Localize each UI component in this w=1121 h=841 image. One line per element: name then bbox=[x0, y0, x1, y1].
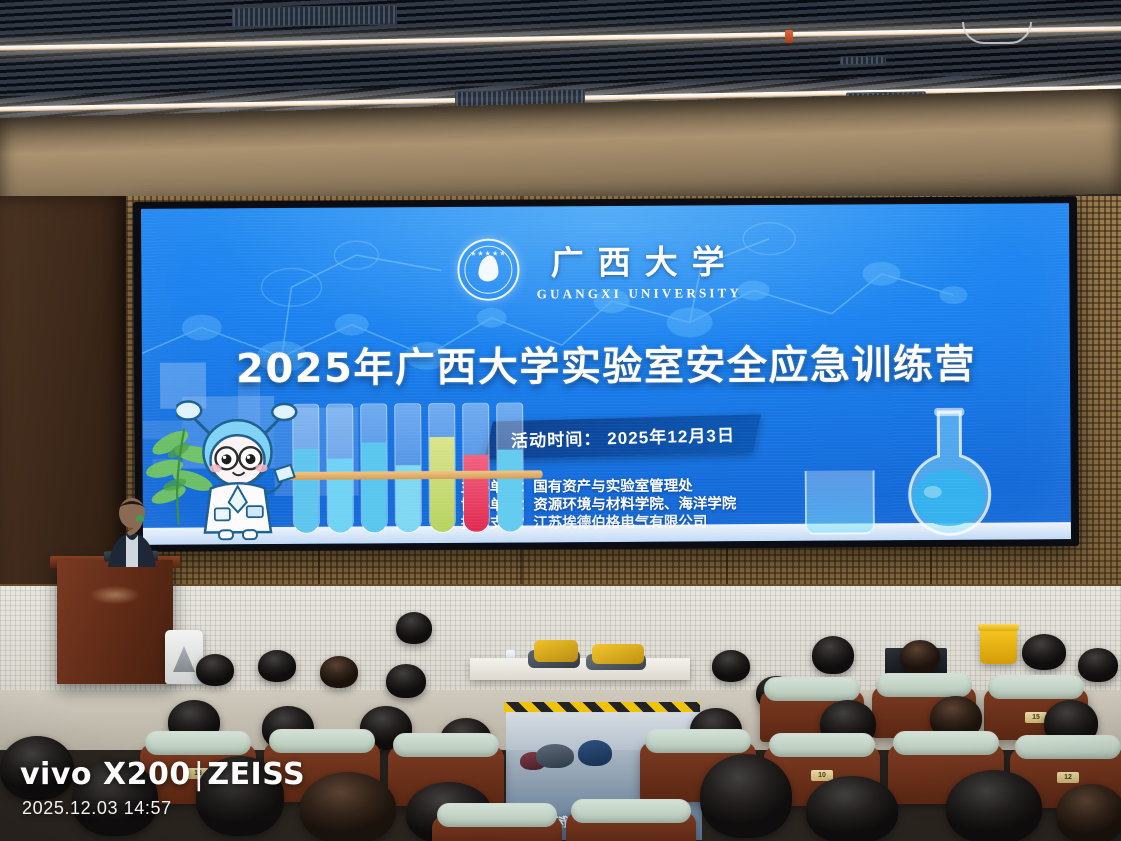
audience-head bbox=[900, 640, 940, 674]
test-tube-rack-icon bbox=[292, 392, 533, 543]
camera-watermark-brand: vivo X200|ZEISS bbox=[20, 757, 305, 792]
display-table bbox=[470, 658, 690, 680]
sprinkler-head bbox=[785, 30, 793, 43]
photograph: ★★★★★ 广西大学 GUANGXI UNIVERSITY 2025年广西大学实… bbox=[0, 0, 1121, 841]
yellow-bucket bbox=[980, 628, 1017, 664]
audience-head bbox=[258, 650, 296, 682]
ceiling-vent bbox=[232, 5, 397, 28]
university-seal-icon: ★★★★★ bbox=[457, 239, 519, 301]
seat-number: 12 bbox=[1057, 772, 1079, 783]
led-screen: ★★★★★ 广西大学 GUANGXI UNIVERSITY 2025年广西大学实… bbox=[141, 203, 1071, 545]
slide-title: 2025年广西大学实验室安全应急训练营 bbox=[236, 332, 976, 395]
test-tube bbox=[394, 403, 422, 533]
safety-gear-item bbox=[534, 640, 578, 662]
scientist-mascot-icon bbox=[176, 390, 299, 541]
test-tube bbox=[360, 403, 388, 533]
auditorium-seat bbox=[432, 816, 562, 841]
test-tube bbox=[326, 404, 354, 534]
audience-head bbox=[812, 636, 854, 674]
university-logo: ★★★★★ 广西大学 GUANGXI UNIVERSITY bbox=[457, 235, 742, 303]
audience-head bbox=[196, 654, 234, 686]
beaker-icon bbox=[805, 470, 875, 534]
audience-head bbox=[806, 776, 898, 841]
podium-emblem-icon bbox=[80, 582, 150, 608]
watermark-model: vivo X200 bbox=[20, 757, 191, 792]
audience-head bbox=[320, 656, 358, 688]
auditorium-seat bbox=[566, 812, 696, 841]
audience-head bbox=[700, 754, 792, 838]
rack-support-bar bbox=[285, 470, 543, 480]
speaker-person bbox=[96, 497, 168, 569]
safety-helmet bbox=[536, 744, 574, 768]
safety-gear-item bbox=[592, 644, 644, 664]
camera-watermark-timestamp: 2025.12.03 14:57 bbox=[22, 798, 172, 819]
audience-head bbox=[386, 664, 426, 698]
seal-stars: ★★★★★ bbox=[470, 250, 506, 258]
test-tube bbox=[428, 403, 456, 533]
audience-head bbox=[946, 770, 1042, 841]
ceiling-vent bbox=[840, 56, 886, 66]
university-wordmark: 广西大学 GUANGXI UNIVERSITY bbox=[533, 235, 742, 302]
watermark-lens: ZEISS bbox=[207, 757, 305, 792]
safety-helmet bbox=[578, 740, 612, 766]
audience-head bbox=[712, 650, 750, 682]
university-name-cn: 广西大学 bbox=[536, 235, 738, 284]
audience-head bbox=[1056, 784, 1121, 841]
flask-icon bbox=[884, 406, 1013, 539]
test-tube bbox=[462, 403, 490, 533]
university-name-en: GUANGXI UNIVERSITY bbox=[534, 285, 743, 302]
event-date-text: 活动时间： 2025年12月3日 bbox=[511, 421, 736, 452]
podium bbox=[57, 560, 173, 684]
test-tube bbox=[496, 403, 524, 533]
audience-head bbox=[1078, 648, 1118, 682]
ceiling-hanger bbox=[962, 22, 1032, 44]
audience-head bbox=[396, 612, 432, 644]
audience-head bbox=[1022, 634, 1066, 670]
watermark-separator: | bbox=[191, 757, 208, 792]
audience-head bbox=[300, 772, 396, 841]
